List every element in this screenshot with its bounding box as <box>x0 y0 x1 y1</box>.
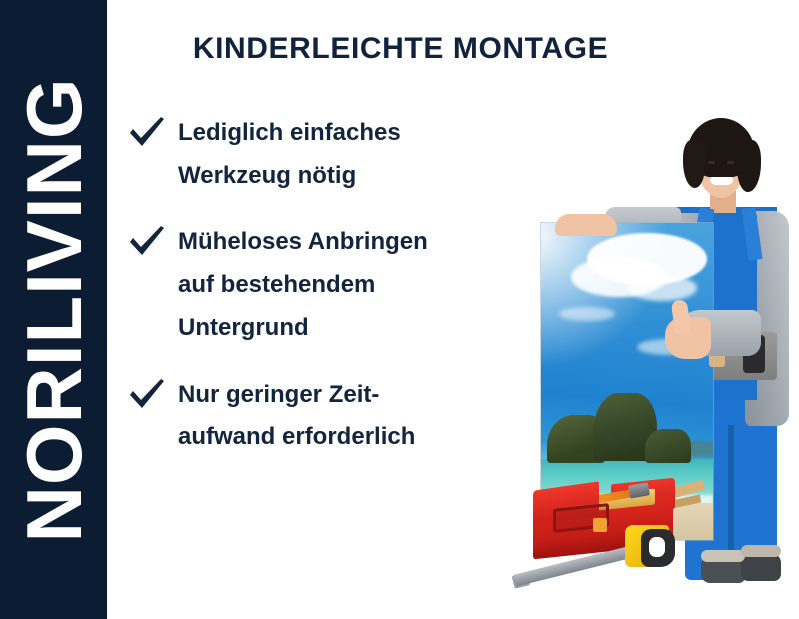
worker-eye-left <box>708 161 715 164</box>
benefit-line: Untergrund <box>178 307 528 350</box>
worker-hair-right <box>737 140 761 192</box>
panel-cloud <box>627 275 697 301</box>
promo-banner: NORILIVING KINDERLEICHTE MONTAGE Ledigli… <box>0 0 799 619</box>
page-title: KINDERLEICHTE MONTAGE <box>128 32 673 66</box>
worker-boot-collar-right <box>741 545 781 557</box>
benefit-line: aufwand erforderlich <box>178 416 528 459</box>
check-mark-icon <box>128 225 166 257</box>
benefit-line: auf bestehendem <box>178 264 528 307</box>
worker-hand-top <box>555 214 617 236</box>
benefit-line: Werkzeug nötig <box>178 155 528 198</box>
worker-eye-right <box>727 161 734 164</box>
panel-cliff <box>645 429 691 463</box>
saw-grip-opening <box>649 537 665 557</box>
list-item: Lediglich einfaches Werkzeug nötig <box>128 112 528 197</box>
saw-blade <box>513 543 642 586</box>
panel-cloud <box>559 307 615 321</box>
brand-wordmark: NORILIVING <box>15 77 93 542</box>
benefit-line: Nur geringer Zeit- <box>178 374 528 417</box>
product-photo <box>505 95 799 600</box>
worker-boot-collar-left <box>701 550 745 562</box>
check-mark-icon <box>128 116 166 148</box>
list-item: Nur geringer Zeit- aufwand erforderlich <box>128 374 528 459</box>
check-mark-icon <box>128 378 166 410</box>
benefit-list: Lediglich einfaches Werkzeug nötig Mühel… <box>128 112 528 483</box>
hand-saw <box>513 519 703 609</box>
list-item: Müheloses Anbringen auf bestehendem Unte… <box>128 221 528 349</box>
benefit-line: Lediglich einfaches <box>178 112 528 155</box>
worker-hair-left <box>683 140 705 188</box>
worker-smile <box>710 177 733 185</box>
benefit-line: Müheloses Anbringen <box>178 221 528 264</box>
brand-rail: NORILIVING <box>0 0 107 619</box>
benefit-text: Nur geringer Zeit- aufwand erforderlich <box>178 374 528 459</box>
benefit-text: Lediglich einfaches Werkzeug nötig <box>178 112 528 197</box>
benefit-text: Müheloses Anbringen auf bestehendem Unte… <box>178 221 528 349</box>
worker-boot-right <box>741 553 781 581</box>
